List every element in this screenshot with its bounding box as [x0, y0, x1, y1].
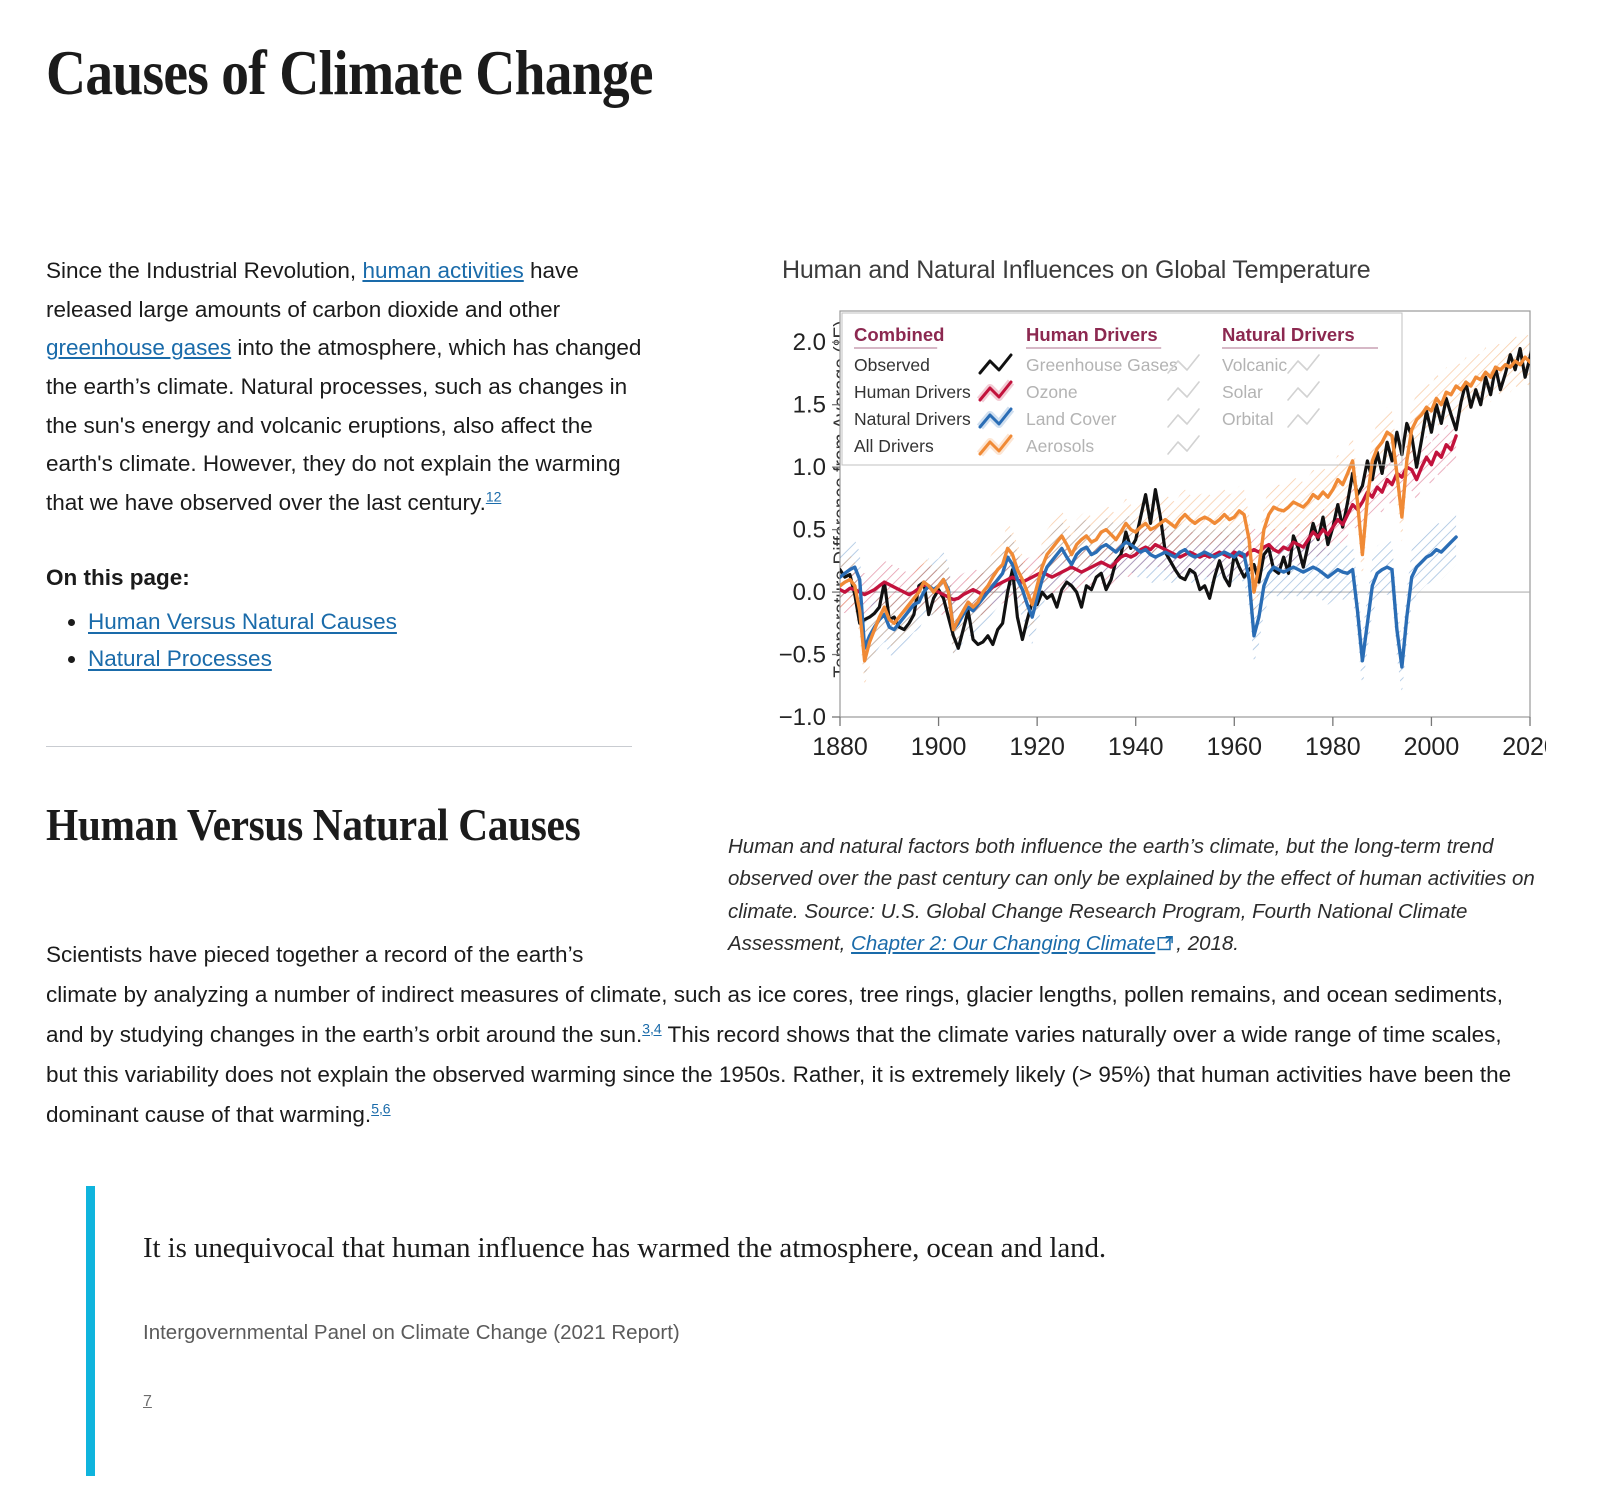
- svg-text:Combined: Combined: [854, 324, 944, 345]
- svg-text:Orbital: Orbital: [1222, 409, 1274, 429]
- section-divider: [46, 746, 632, 747]
- svg-text:1.0: 1.0: [793, 454, 826, 481]
- svg-text:−1.0: −1.0: [779, 704, 826, 731]
- svg-text:Natural Drivers: Natural Drivers: [854, 409, 971, 429]
- svg-text:Human Drivers: Human Drivers: [1026, 324, 1158, 345]
- svg-text:1940: 1940: [1108, 733, 1164, 761]
- svg-text:Volcanic: Volcanic: [1222, 355, 1287, 375]
- chart-title: Human and Natural Influences on Global T…: [782, 256, 1546, 285]
- svg-text:2.0: 2.0: [793, 329, 826, 356]
- svg-text:Land Cover: Land Cover: [1026, 409, 1117, 429]
- list-item: Natural Processes: [88, 643, 646, 675]
- svg-text:1960: 1960: [1206, 733, 1262, 761]
- on-this-page-nav: On this page: Human Versus Natural Cause…: [46, 559, 646, 676]
- svg-text:Observed: Observed: [854, 355, 930, 375]
- svg-text:0.0: 0.0: [793, 579, 826, 606]
- intro-column: Since the Industrial Revolution, human a…: [46, 252, 646, 681]
- pull-quote: It is unequivocal that human influence h…: [86, 1186, 1546, 1476]
- svg-text:1880: 1880: [812, 733, 868, 761]
- chart-container: Temperature Difference from Average (°F)…: [728, 303, 1546, 803]
- quote-footnote-ref[interactable]: 7: [143, 1393, 1546, 1411]
- list-item: Human Versus Natural Causes: [88, 606, 646, 638]
- svg-text:−0.5: −0.5: [779, 642, 826, 669]
- section-body-paragraph: Scientists have pieced together a record…: [46, 935, 1514, 1135]
- quote-text: It is unequivocal that human influence h…: [143, 1228, 1546, 1269]
- svg-text:Solar: Solar: [1222, 382, 1263, 402]
- svg-text:1920: 1920: [1009, 733, 1065, 761]
- svg-text:Aerosols: Aerosols: [1026, 436, 1094, 456]
- line-chart: −1.0−0.50.00.51.01.52.018801900192019401…: [728, 303, 1546, 773]
- section-heading-block: Human Versus Natural Causes: [46, 797, 646, 853]
- intro-paragraph: Since the Industrial Revolution, human a…: [46, 252, 646, 523]
- svg-text:Ozone: Ozone: [1026, 382, 1078, 402]
- footnote-ref-56[interactable]: 5,6: [371, 1101, 390, 1117]
- link-greenhouse-gases[interactable]: greenhouse gases: [46, 335, 231, 360]
- on-this-page-list: Human Versus Natural Causes Natural Proc…: [46, 606, 646, 676]
- section-title-human-versus-natural-causes: Human Versus Natural Causes: [46, 797, 586, 853]
- svg-text:1.5: 1.5: [793, 392, 826, 419]
- svg-text:1980: 1980: [1305, 733, 1361, 761]
- svg-text:Greenhouse Gases: Greenhouse Gases: [1026, 355, 1178, 375]
- svg-text:2020: 2020: [1502, 733, 1546, 761]
- footnote-ref-34[interactable]: 3,4: [642, 1021, 661, 1037]
- page-title: Causes of Climate Change: [46, 40, 1373, 106]
- toc-link-human-versus-natural-causes[interactable]: Human Versus Natural Causes: [88, 609, 397, 634]
- intro-text-c: into the atmosphere, which has changed t…: [46, 335, 641, 515]
- article-page: Causes of Climate Change Since the Indus…: [0, 40, 1600, 1489]
- body-first-line: Scientists have pieced together a record…: [46, 935, 636, 975]
- svg-text:2000: 2000: [1404, 733, 1460, 761]
- toc-link-natural-processes[interactable]: Natural Processes: [88, 646, 272, 671]
- quote-attribution: Intergovernmental Panel on Climate Chang…: [143, 1321, 1546, 1345]
- svg-text:All Drivers: All Drivers: [854, 436, 934, 456]
- svg-text:1900: 1900: [911, 733, 967, 761]
- figure-global-temperature: Human and Natural Influences on Global T…: [728, 256, 1546, 963]
- on-this-page-label: On this page:: [46, 559, 646, 598]
- svg-text:Natural Drivers: Natural Drivers: [1222, 324, 1355, 345]
- footnote-ref-12[interactable]: 12: [486, 489, 502, 505]
- intro-text-a: Since the Industrial Revolution,: [46, 258, 362, 283]
- link-human-activities[interactable]: human activities: [362, 258, 523, 283]
- svg-text:0.5: 0.5: [793, 517, 826, 544]
- svg-text:Human Drivers: Human Drivers: [854, 382, 971, 402]
